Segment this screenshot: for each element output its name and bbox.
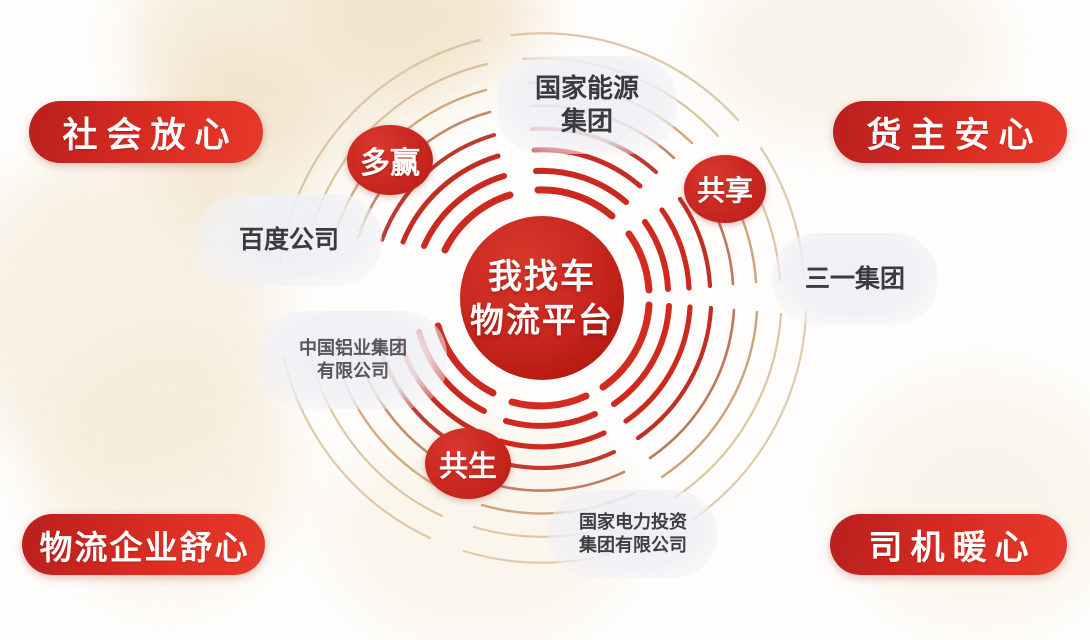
center-platform-label: 我找车 物流平台: [442, 254, 642, 344]
slogan-pill-bottom-left[interactable]: 物流企业舒心: [22, 514, 265, 575]
partner-node-baidu[interactable]: 百度公司: [196, 194, 382, 286]
slogan-pill-top-right-label: 货主安心: [857, 107, 1042, 158]
partner-line-2: 集团: [561, 105, 613, 138]
partner-node-spic[interactable]: 国家电力投资 集团有限公司: [548, 490, 718, 578]
slogan-pill-top-right[interactable]: 货主安心: [833, 101, 1067, 163]
partner-node-guojia-nengyuan[interactable]: 国家能源 集团: [497, 56, 677, 154]
value-badge-duoying-label: 多赢: [360, 138, 420, 182]
partner-line-1: 三一集团: [805, 263, 905, 295]
partner-line-1: 中国铝业集团: [299, 337, 407, 360]
partner-line-1: 百度公司: [239, 224, 339, 256]
center-line-1: 我找车: [488, 255, 596, 299]
center-line-2: 物流平台: [470, 299, 614, 343]
value-badge-gongsheng-label: 共生: [439, 443, 497, 485]
partner-line-1: 国家电力投资: [579, 511, 687, 534]
partner-node-chinalco[interactable]: 中国铝业集团 有限公司: [259, 311, 447, 409]
partner-node-sany[interactable]: 三一集团: [772, 233, 938, 325]
partner-line-1: 国家能源: [535, 72, 639, 105]
slogan-pill-bottom-left-label: 物流企业舒心: [38, 521, 250, 569]
slogan-pill-top-left-label: 社会放心: [53, 107, 238, 158]
value-badge-gongxiang[interactable]: 共享: [684, 155, 766, 223]
slogan-pill-top-left[interactable]: 社会放心: [29, 101, 263, 163]
infographic-canvas: 我找车 物流平台 多赢 共享 共生 国家能源 集团 百度公司 三一集团 中国铝业…: [0, 0, 1090, 604]
value-badge-gongsheng[interactable]: 共生: [425, 428, 511, 499]
value-badge-duoying[interactable]: 多赢: [347, 125, 433, 195]
slogan-pill-bottom-right[interactable]: 司机暖心: [830, 514, 1067, 575]
partner-line-2: 有限公司: [317, 360, 389, 383]
slogan-pill-bottom-right-label: 司机暖心: [861, 520, 1037, 569]
partner-line-2: 集团有限公司: [579, 534, 687, 557]
value-badge-gongxiang-label: 共享: [697, 169, 753, 209]
